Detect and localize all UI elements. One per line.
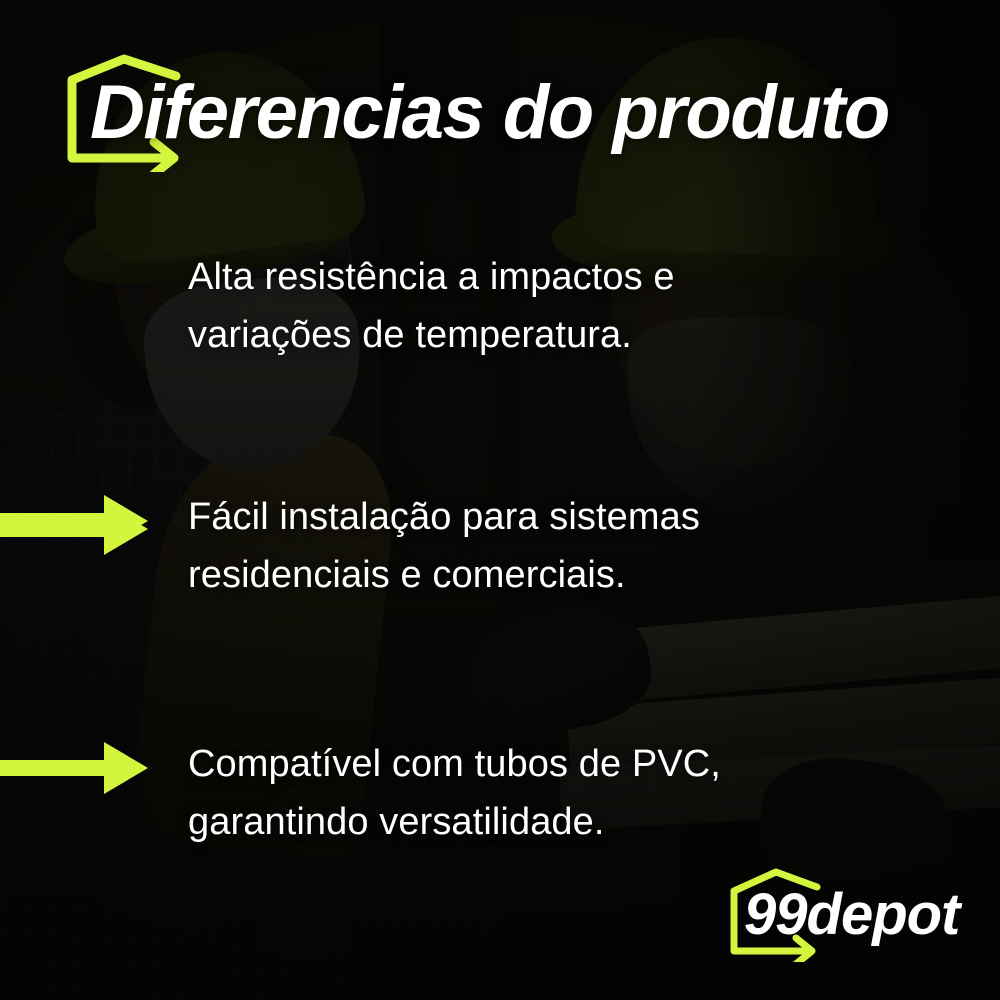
bullet-line: garantindo versatilidade. <box>188 801 605 843</box>
arrow-right-icon <box>0 740 150 796</box>
promo-card: Diferencias do produto Alta resistência … <box>0 0 1000 1000</box>
bullet-text: Fácil instalação para sistemasresidencia… <box>188 488 928 604</box>
bullet-text: Compatível com tubos de PVC,garantindo v… <box>188 735 928 851</box>
bullet-line: variações de temperatura. <box>188 314 632 356</box>
card-content: Diferencias do produto Alta resistência … <box>0 0 1000 1000</box>
brand-wordmark: 99depot <box>744 882 959 948</box>
arrow-right-icon <box>0 493 150 549</box>
bullet-line: Fácil instalação para sistemas <box>188 496 700 538</box>
bullet-list: Alta resistência a impactos evariações d… <box>0 0 1000 1000</box>
bullet-line: Alta resistência a impactos e <box>188 256 675 298</box>
bullet-text: Alta resistência a impactos evariações d… <box>188 248 928 364</box>
bullet-line: residenciais e comerciais. <box>188 554 626 596</box>
brand-logo: 99depot <box>726 868 946 964</box>
bullet-line: Compatível com tubos de PVC, <box>188 743 721 785</box>
